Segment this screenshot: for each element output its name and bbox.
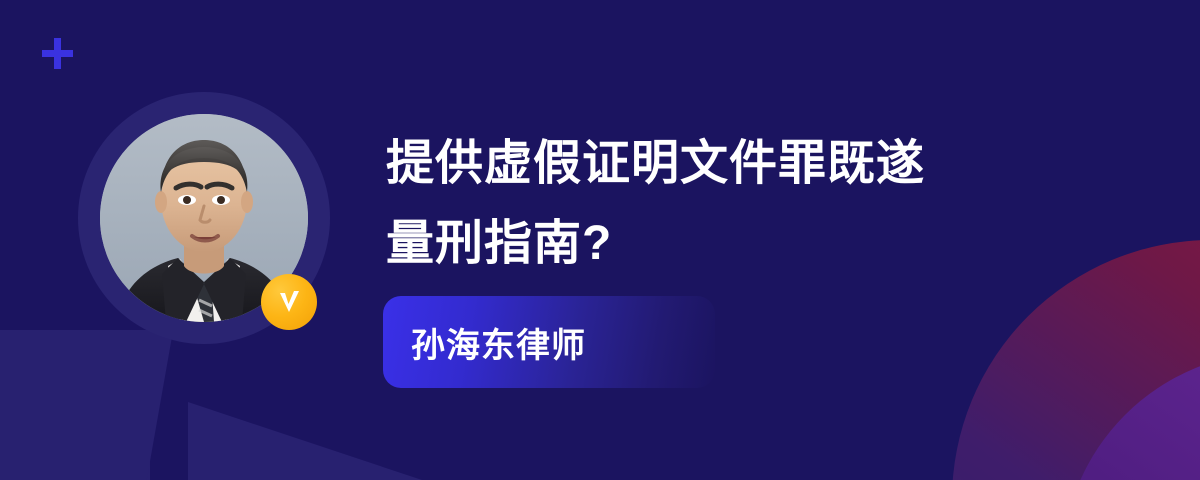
verified-check-icon <box>261 274 317 330</box>
author-name-label: 孙海东律师 <box>411 318 586 367</box>
plus-icon <box>42 38 73 69</box>
navy-triangle-shape <box>188 402 488 480</box>
author-name-badge[interactable]: 孙海东律师 <box>383 296 715 388</box>
article-cover-banner: 提供虚假证明文件罪既遂 量刑指南? 孙海东律师 <box>0 0 1200 480</box>
navy-rectangle-shape <box>0 330 173 480</box>
avatar[interactable] <box>78 92 330 344</box>
page-title: 提供虚假证明文件罪既遂 量刑指南? <box>386 124 1086 284</box>
